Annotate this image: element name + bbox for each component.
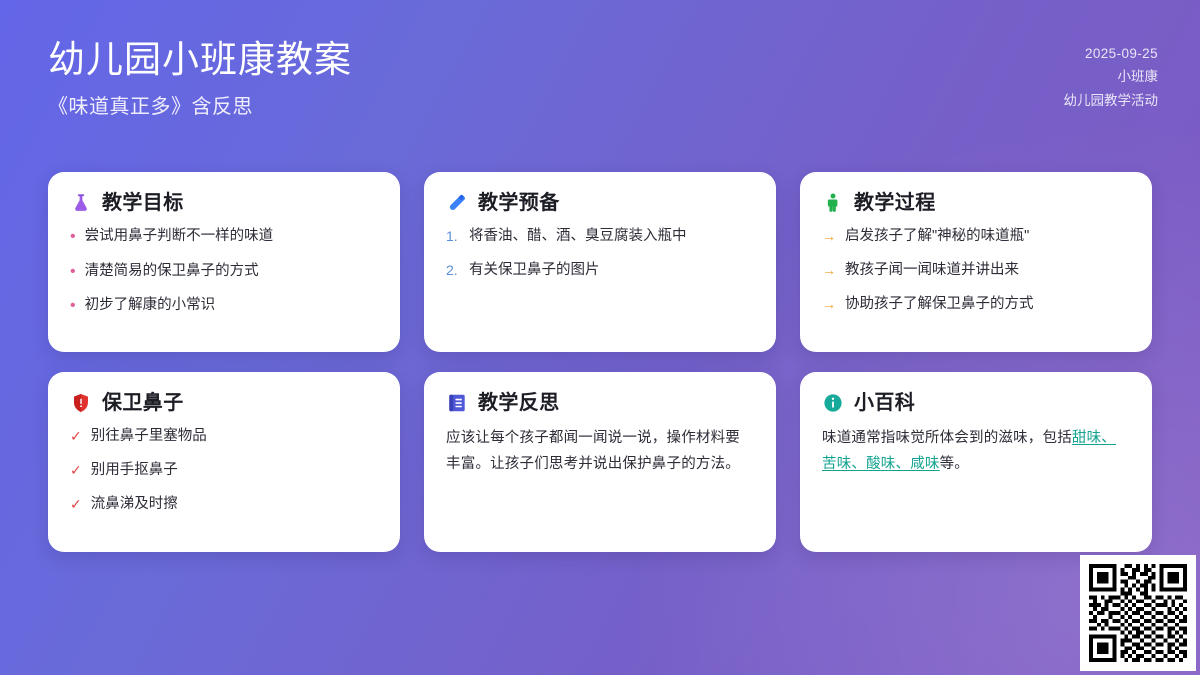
test-tube-icon: [446, 192, 468, 214]
list-item: ✓ 别往鼻子里塞物品: [70, 426, 378, 447]
list-item-text: 启发孩子了解"神秘的味道瓶": [845, 226, 1130, 247]
list-number: 1.: [446, 226, 460, 247]
card-reflection[interactable]: 教学反思 应该让每个孩子都闻一闻说一说，操作材料要丰富。让孩子们思考并说出保护鼻…: [424, 372, 776, 552]
card-preparation[interactable]: 教学预备 1. 将香油、醋、酒、臭豆腐装入瓶中 2. 有关保卫鼻子的图片: [424, 172, 776, 352]
encyclopedia-suffix: 等。: [940, 456, 969, 472]
header-meta: 2025-09-25 小班康 幼儿园教学活动: [1064, 42, 1159, 112]
page-subtitle: 《味道真正多》含反思: [48, 90, 352, 119]
list-item: → 教孩子闻一闻味道并讲出来: [822, 260, 1130, 281]
list-item-text: 流鼻涕及时擦: [91, 494, 378, 515]
meta-date: 2025-09-25: [1064, 42, 1159, 65]
check-icon: ✓: [70, 460, 82, 481]
slide-header: 幼儿园小班康教案 《味道真正多》含反思 2025-09-25 小班康 幼儿园教学…: [0, 0, 1200, 150]
book-icon: [446, 392, 468, 414]
arrow-right-icon: →: [822, 226, 836, 247]
list-item: 1. 将香油、醋、酒、臭豆腐装入瓶中: [446, 226, 754, 247]
meta-class: 小班康: [1064, 65, 1159, 88]
check-icon: ✓: [70, 426, 82, 447]
list-item: • 初步了解康的小常识: [70, 295, 378, 317]
list-item: ✓ 别用手抠鼻子: [70, 460, 378, 481]
card-title: 教学目标: [102, 192, 184, 214]
card-title: 保卫鼻子: [102, 392, 184, 414]
qr-code-image: [1089, 564, 1187, 662]
card-title: 教学反思: [478, 392, 560, 414]
shield-icon: [70, 392, 92, 414]
list-item-text: 初步了解康的小常识: [85, 295, 378, 316]
encyclopedia-prefix: 味道通常指味觉所体会到的滋味，包括: [822, 430, 1072, 446]
list-item-text: 尝试用鼻子判断不一样的味道: [85, 226, 378, 247]
list-item: • 清楚简易的保卫鼻子的方式: [70, 261, 378, 283]
bullet-icon: •: [70, 295, 76, 317]
card-header: 小百科: [822, 392, 1130, 414]
info-icon: [822, 392, 844, 414]
list-item: ✓ 流鼻涕及时擦: [70, 494, 378, 515]
card-objectives[interactable]: 教学目标 • 尝试用鼻子判断不一样的味道 • 清楚简易的保卫鼻子的方式 • 初步…: [48, 172, 400, 352]
card-process[interactable]: 教学过程 → 启发孩子了解"神秘的味道瓶" → 教孩子闻一闻味道并讲出来 → 协…: [800, 172, 1152, 352]
list-item: • 尝试用鼻子判断不一样的味道: [70, 226, 378, 248]
card-title: 教学预备: [478, 192, 560, 214]
process-list: → 启发孩子了解"神秘的味道瓶" → 教孩子闻一闻味道并讲出来 → 协助孩子了解…: [822, 226, 1130, 315]
bullet-icon: •: [70, 261, 76, 283]
card-grid: 教学目标 • 尝试用鼻子判断不一样的味道 • 清楚简易的保卫鼻子的方式 • 初步…: [48, 172, 1152, 552]
list-item-text: 清楚简易的保卫鼻子的方式: [85, 261, 378, 282]
list-item: → 启发孩子了解"神秘的味道瓶": [822, 226, 1130, 247]
meta-category: 幼儿园教学活动: [1064, 89, 1159, 112]
card-encyclopedia[interactable]: 小百科 味道通常指味觉所体会到的滋味，包括甜味、苦味、酸味、咸味等。: [800, 372, 1152, 552]
card-title: 小百科: [854, 392, 915, 414]
protect-nose-list: ✓ 别往鼻子里塞物品 ✓ 别用手抠鼻子 ✓ 流鼻涕及时擦: [70, 426, 378, 515]
card-title: 教学过程: [854, 192, 936, 214]
card-header: 教学过程: [822, 192, 1130, 214]
card-header: 保卫鼻子: [70, 392, 378, 414]
preparation-list: 1. 将香油、醋、酒、臭豆腐装入瓶中 2. 有关保卫鼻子的图片: [446, 226, 754, 281]
card-header: 教学反思: [446, 392, 754, 414]
list-item: 2. 有关保卫鼻子的图片: [446, 260, 754, 281]
list-item-text: 有关保卫鼻子的图片: [469, 260, 754, 281]
list-item-text: 别用手抠鼻子: [91, 460, 378, 481]
qr-code[interactable]: [1080, 555, 1196, 671]
list-number: 2.: [446, 260, 460, 281]
list-item: → 协助孩子了解保卫鼻子的方式: [822, 294, 1130, 315]
list-item-text: 教孩子闻一闻味道并讲出来: [845, 260, 1130, 281]
arrow-right-icon: →: [822, 294, 836, 315]
flask-icon: [70, 192, 92, 214]
person-icon: [822, 192, 844, 214]
bullet-icon: •: [70, 226, 76, 248]
reflection-text: 应该让每个孩子都闻一闻说一说，操作材料要丰富。让孩子们思考并说出保护鼻子的方法。: [446, 426, 754, 478]
page-title: 幼儿园小班康教案: [48, 38, 352, 82]
list-item-text: 别往鼻子里塞物品: [91, 426, 378, 447]
list-item-text: 将香油、醋、酒、臭豆腐装入瓶中: [469, 226, 754, 247]
encyclopedia-text: 味道通常指味觉所体会到的滋味，包括甜味、苦味、酸味、咸味等。: [822, 426, 1130, 478]
arrow-right-icon: →: [822, 260, 836, 281]
check-icon: ✓: [70, 494, 82, 515]
card-protect-nose[interactable]: 保卫鼻子 ✓ 别往鼻子里塞物品 ✓ 别用手抠鼻子 ✓ 流鼻涕及时擦: [48, 372, 400, 552]
objectives-list: • 尝试用鼻子判断不一样的味道 • 清楚简易的保卫鼻子的方式 • 初步了解康的小…: [70, 226, 378, 317]
slide-root: 幼儿园小班康教案 《味道真正多》含反思 2025-09-25 小班康 幼儿园教学…: [0, 0, 1200, 675]
title-block: 幼儿园小班康教案 《味道真正多》含反思: [48, 38, 352, 119]
list-item-text: 协助孩子了解保卫鼻子的方式: [845, 294, 1130, 315]
card-header: 教学预备: [446, 192, 754, 214]
card-header: 教学目标: [70, 192, 378, 214]
